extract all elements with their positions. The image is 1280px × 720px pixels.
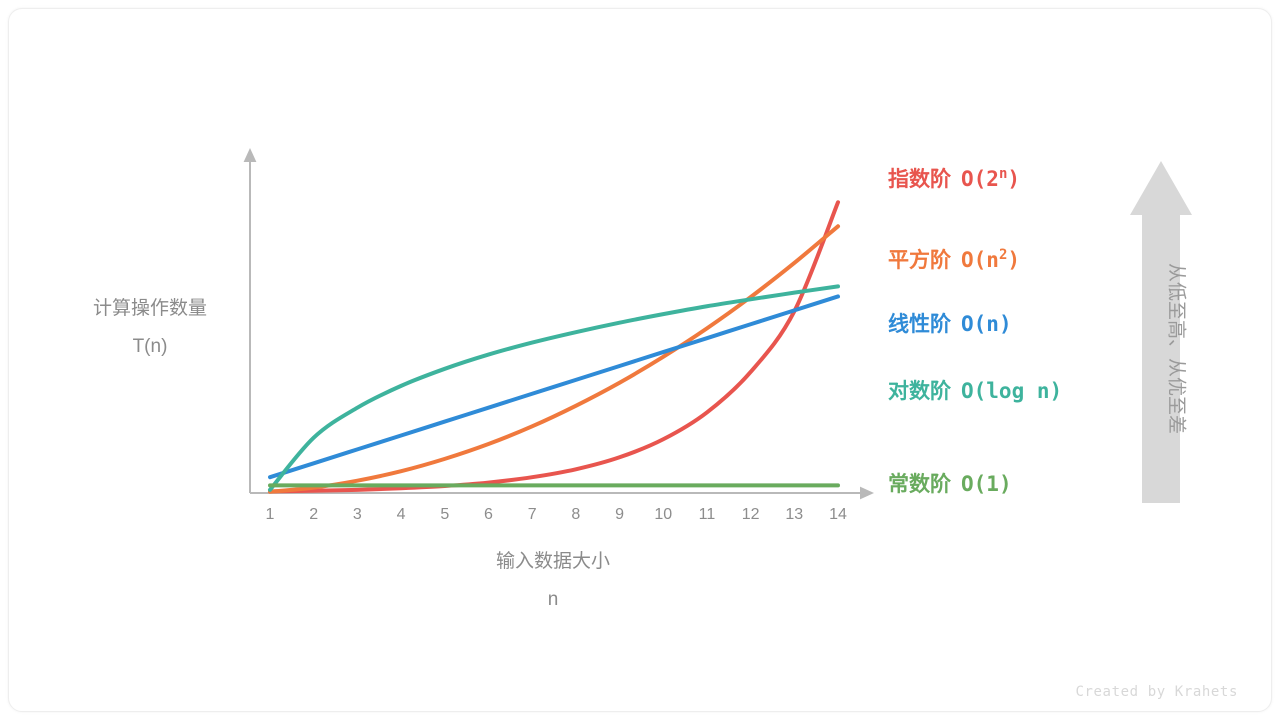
legend-notation-sup-0: n xyxy=(999,166,1007,182)
x-tick-13: 13 xyxy=(779,506,809,524)
x-axis-label: 输入数据大小 n xyxy=(443,543,663,619)
x-tick-5: 5 xyxy=(430,506,460,524)
x-tick-4: 4 xyxy=(386,506,416,524)
legend-name-2: 线性阶 xyxy=(888,313,951,336)
legend-item-3: 对数阶O(log n) xyxy=(888,375,1062,405)
x-tick-8: 8 xyxy=(561,506,591,524)
ranking-arrow-label: 从低至高、从优至差 xyxy=(1165,249,1192,449)
y-axis-label-sub: T(n) xyxy=(40,328,260,366)
x-tick-1: 1 xyxy=(255,506,285,524)
x-tick-11: 11 xyxy=(692,506,722,524)
x-tick-6: 6 xyxy=(473,506,503,524)
legend-item-0: 指数阶O(2n) xyxy=(888,163,1020,193)
series-line-2 xyxy=(270,296,838,477)
chart-stage: 计算操作数量 T(n) 输入数据大小 n 1234567891011121314… xyxy=(0,0,1280,720)
x-tick-10: 10 xyxy=(648,506,678,524)
legend-item-1: 平方阶O(n2) xyxy=(888,244,1020,274)
y-axis-label: 计算操作数量 T(n) xyxy=(40,290,260,366)
legend-name-1: 平方阶 xyxy=(888,249,951,272)
y-axis-label-main: 计算操作数量 xyxy=(40,290,260,328)
x-axis-label-main: 输入数据大小 xyxy=(443,543,663,581)
legend-notation-1: O(n2) xyxy=(961,248,1020,272)
x-tick-3: 3 xyxy=(342,506,372,524)
legend-notation-sup-1: 2 xyxy=(999,247,1007,263)
legend-item-2: 线性阶O(n) xyxy=(888,308,1012,338)
legend-name-4: 常数阶 xyxy=(888,473,951,496)
legend-name-3: 对数阶 xyxy=(888,380,951,403)
x-tick-9: 9 xyxy=(605,506,635,524)
legend-notation-3: O(log n) xyxy=(961,379,1062,403)
x-tick-2: 2 xyxy=(299,506,329,524)
credit-text: Created by Krahets xyxy=(1075,684,1238,700)
x-tick-7: 7 xyxy=(517,506,547,524)
legend-notation-4: O(1) xyxy=(961,472,1012,496)
legend-notation-0: O(2n) xyxy=(961,167,1020,191)
legend-item-4: 常数阶O(1) xyxy=(888,468,1012,498)
x-axis-label-sub: n xyxy=(443,581,663,619)
x-tick-12: 12 xyxy=(736,506,766,524)
legend-name-0: 指数阶 xyxy=(888,168,951,191)
series-layer xyxy=(270,202,838,491)
x-tick-14: 14 xyxy=(823,506,853,524)
legend-notation-2: O(n) xyxy=(961,312,1012,336)
